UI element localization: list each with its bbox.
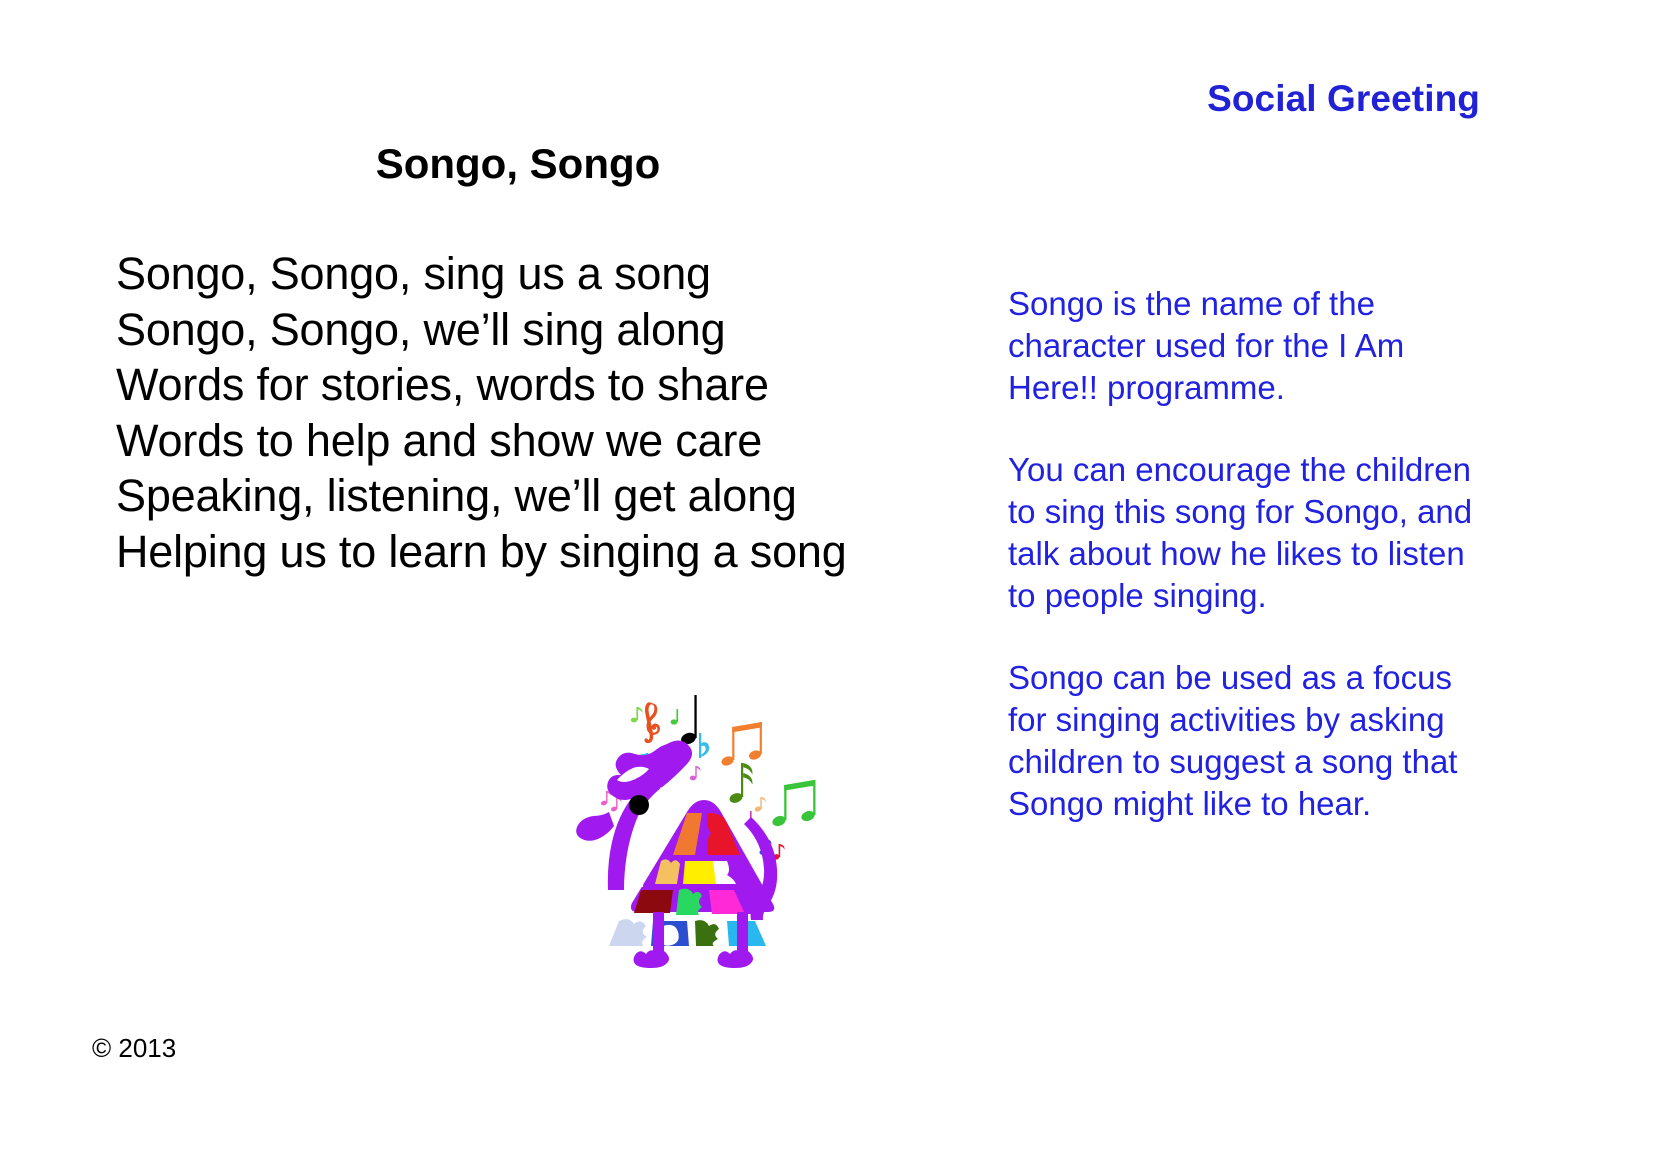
songo-leg-left [653,912,664,954]
songo-character-illustration [575,685,845,985]
music-note-orange-pair [720,722,762,767]
note-paragraph: You can encourage the children to sing t… [1008,449,1498,617]
music-note-black [680,695,698,746]
songo-leg-right [737,912,748,954]
teaching-notes: Songo is the name of the character used … [1008,283,1498,825]
songo-jaw [576,812,614,841]
music-note-darkgreen-pair [728,763,752,804]
page-title: Songo, Songo [118,140,918,188]
music-note-green-tiny [671,709,679,725]
songo-eye [629,795,649,815]
lyric-line: Words to help and show we care [116,413,996,469]
lyric-line: Songo, Songo, sing us a song [116,246,996,302]
music-note-peach-tiny [754,797,766,812]
songo-foot-right [718,950,754,968]
music-note-green-small [631,707,643,722]
treble-clef-icon [644,702,660,743]
lyric-line: Songo, Songo, we’ll sing along [116,302,996,358]
slide-canvas: Social Greeting Songo, Songo Songo, Song… [0,0,1653,1167]
lyric-line: Words for stories, words to share [116,357,996,413]
lyrics-block: Songo, Songo, sing us a song Songo, Song… [116,246,996,579]
songo-foot-left [634,950,670,968]
lyric-line: Speaking, listening, we’ll get along [116,468,996,524]
music-note-pink-tiny [690,766,701,780]
music-note-brightgreen-pair [771,780,816,828]
copyright-notice: © 2013 [92,1033,176,1064]
note-paragraph: Songo is the name of the character used … [1008,283,1498,409]
lyric-line: Helping us to learn by singing a song [116,524,996,580]
category-label: Social Greeting [960,78,1480,120]
music-flat-icon [699,733,709,758]
note-paragraph: Songo can be used as a focus for singing… [1008,657,1498,825]
